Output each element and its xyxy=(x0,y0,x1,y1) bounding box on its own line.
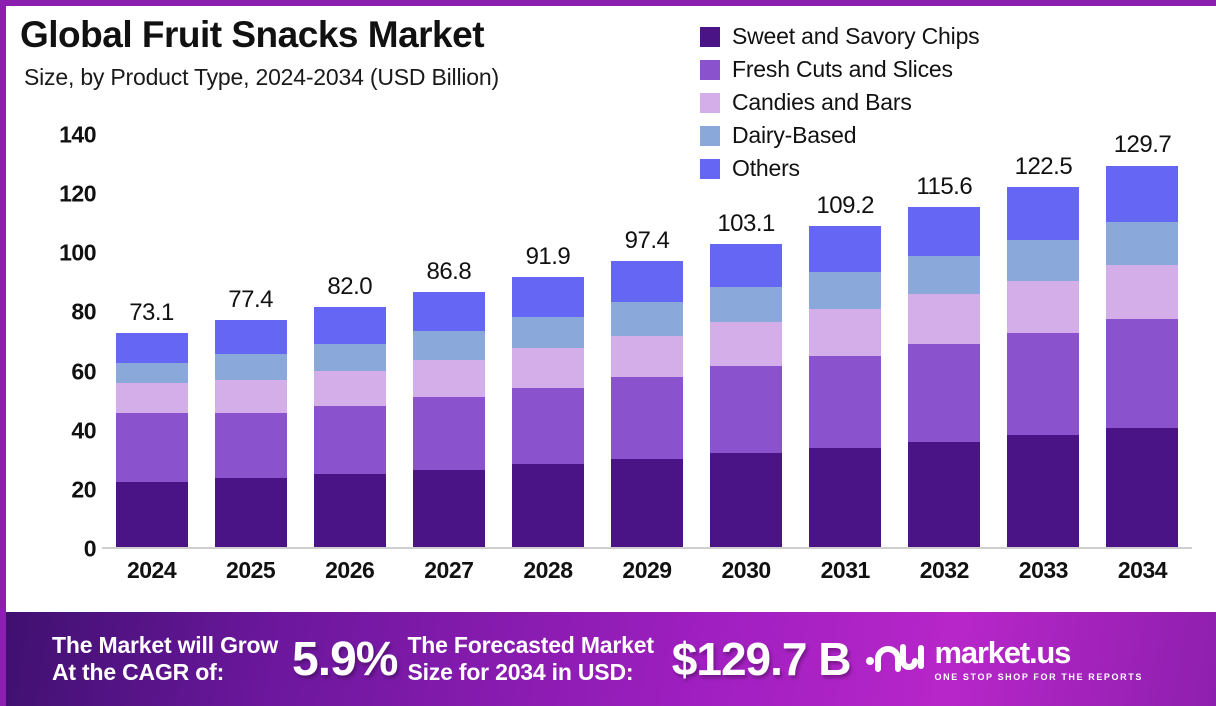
bar-segment[interactable] xyxy=(611,336,683,378)
bar-slot: 82.0 xyxy=(300,135,399,549)
bar-segment[interactable] xyxy=(314,474,386,549)
bar-segment[interactable] xyxy=(1007,187,1079,240)
stacked-bar[interactable] xyxy=(1007,187,1079,549)
stacked-bar[interactable] xyxy=(215,320,287,549)
bar-segment[interactable] xyxy=(1106,265,1178,319)
bar-segment[interactable] xyxy=(710,366,782,453)
y-axis-tick-label: 0 xyxy=(84,536,96,563)
bar-segment[interactable] xyxy=(908,207,980,255)
stacked-bar[interactable] xyxy=(1106,165,1178,549)
legend-swatch-icon xyxy=(700,60,720,80)
y-axis-tick-label: 40 xyxy=(71,417,96,444)
stacked-bar[interactable] xyxy=(116,333,188,549)
bar-total-label: 122.5 xyxy=(1015,153,1073,181)
page-subtitle: Size, by Product Type, 2024-2034 (USD Bi… xyxy=(24,64,499,91)
infographic-frame: Global Fruit Snacks Market Size, by Prod… xyxy=(0,0,1216,706)
stacked-bar[interactable] xyxy=(809,226,881,549)
x-axis-line xyxy=(102,547,1192,549)
bar-total-label: 77.4 xyxy=(228,286,273,314)
bar-total-label: 115.6 xyxy=(916,173,972,201)
bar-slot: 103.1 xyxy=(697,135,796,549)
x-axis-tick-label: 2025 xyxy=(201,557,300,597)
bar-segment[interactable] xyxy=(314,344,386,371)
bar-total-label: 109.2 xyxy=(816,192,874,220)
page-title: Global Fruit Snacks Market xyxy=(20,14,499,57)
stacked-bar[interactable] xyxy=(413,292,485,549)
x-axis-tick-label: 2027 xyxy=(399,557,498,597)
y-axis-tick-label: 120 xyxy=(59,181,96,208)
bar-segment[interactable] xyxy=(1106,222,1178,265)
legend-item[interactable]: Fresh Cuts and Slices xyxy=(700,53,979,86)
plot-area: 73.177.482.086.891.997.4103.1109.2115.61… xyxy=(102,135,1192,549)
bar-segment[interactable] xyxy=(710,244,782,287)
bar-segment[interactable] xyxy=(512,348,584,387)
bar-segment[interactable] xyxy=(611,459,683,549)
x-axis-tick-label: 2034 xyxy=(1093,557,1192,597)
stacked-bar[interactable] xyxy=(710,244,782,549)
bar-segment[interactable] xyxy=(413,292,485,331)
bar-segment[interactable] xyxy=(314,307,386,344)
bar-segment[interactable] xyxy=(611,377,683,459)
forecast-size-label-line1: The Forecasted Market xyxy=(407,632,653,659)
market-us-monogram-icon xyxy=(865,639,927,680)
bar-segment[interactable] xyxy=(611,302,683,335)
bar-segment[interactable] xyxy=(512,464,584,549)
stacked-bar[interactable] xyxy=(512,277,584,549)
bar-segment[interactable] xyxy=(116,482,188,549)
brand-text: market.us ONE STOP SHOP FOR THE REPORTS xyxy=(935,637,1143,682)
bar-total-label: 86.8 xyxy=(426,258,471,286)
brand-name: market.us xyxy=(935,637,1143,668)
bar-segment[interactable] xyxy=(809,309,881,356)
bar-segment[interactable] xyxy=(314,406,386,475)
y-axis-tick-label: 80 xyxy=(71,299,96,326)
legend-swatch-icon xyxy=(700,27,720,47)
bar-slot: 122.5 xyxy=(994,135,1093,549)
bar-slot: 91.9 xyxy=(498,135,597,549)
cagr-label-line1: The Market will Grow xyxy=(52,632,278,659)
bar-segment[interactable] xyxy=(809,356,881,448)
y-axis-tick-label: 100 xyxy=(59,240,96,267)
x-axis-tick-label: 2028 xyxy=(498,557,597,597)
forecast-size-label: The Forecasted Market Size for 2034 in U… xyxy=(407,632,653,686)
bar-segment[interactable] xyxy=(215,380,287,413)
bar-segment[interactable] xyxy=(710,322,782,366)
bar-total-label: 91.9 xyxy=(526,243,571,271)
bar-segment[interactable] xyxy=(1007,281,1079,333)
bar-slot: 97.4 xyxy=(597,135,696,549)
y-axis-tick-label: 60 xyxy=(71,358,96,385)
y-axis-labels: 020406080100120140 xyxy=(26,135,96,549)
bar-segment[interactable] xyxy=(116,383,188,413)
bar-total-label: 97.4 xyxy=(625,227,670,255)
bar-segment[interactable] xyxy=(413,397,485,470)
bar-total-label: 103.1 xyxy=(717,210,775,238)
bar-segment[interactable] xyxy=(908,256,980,295)
bar-segment[interactable] xyxy=(215,320,287,354)
bar-segment[interactable] xyxy=(908,442,980,549)
bar-slot: 77.4 xyxy=(201,135,300,549)
x-axis-tick-label: 2033 xyxy=(994,557,1093,597)
bar-segment[interactable] xyxy=(116,333,188,363)
brand-tagline: ONE STOP SHOP FOR THE REPORTS xyxy=(935,672,1143,682)
bar-segment[interactable] xyxy=(1007,435,1079,549)
x-axis-tick-label: 2024 xyxy=(102,557,201,597)
legend-item[interactable]: Candies and Bars xyxy=(700,86,979,119)
bar-segment[interactable] xyxy=(215,354,287,379)
legend-item-label: Fresh Cuts and Slices xyxy=(732,56,953,83)
bar-segment[interactable] xyxy=(413,360,485,397)
bar-segment[interactable] xyxy=(314,371,386,406)
forecast-size-label-line2: Size for 2034 in USD: xyxy=(407,659,653,686)
bar-segment[interactable] xyxy=(413,331,485,360)
bar-segment[interactable] xyxy=(809,448,881,549)
bar-segment[interactable] xyxy=(710,453,782,549)
bar-segment[interactable] xyxy=(413,470,485,549)
bar-total-label: 82.0 xyxy=(327,273,372,301)
bar-segment[interactable] xyxy=(1007,240,1079,281)
x-axis-tick-label: 2026 xyxy=(300,557,399,597)
x-axis-tick-label: 2031 xyxy=(796,557,895,597)
bar-segment[interactable] xyxy=(1007,333,1079,436)
cagr-value: 5.9% xyxy=(292,632,397,687)
bar-slot: 109.2 xyxy=(796,135,895,549)
legend-swatch-icon xyxy=(700,93,720,113)
bar-total-label: 73.1 xyxy=(129,299,174,327)
bar-segment[interactable] xyxy=(1106,319,1178,428)
bar-segment[interactable] xyxy=(611,261,683,302)
x-axis-tick-label: 2032 xyxy=(895,557,994,597)
bar-slot: 73.1 xyxy=(102,135,201,549)
bar-segment[interactable] xyxy=(809,272,881,309)
x-axis-labels: 2024202520262027202820292030203120322033… xyxy=(102,557,1192,597)
cagr-label: The Market will Grow At the CAGR of: xyxy=(52,632,278,686)
chart-header: Global Fruit Snacks Market Size, by Prod… xyxy=(20,14,499,91)
bar-segment[interactable] xyxy=(512,388,584,465)
y-axis-tick-label: 20 xyxy=(71,476,96,503)
legend-item[interactable]: Sweet and Savory Chips xyxy=(700,20,979,53)
legend-item-label: Candies and Bars xyxy=(732,89,912,116)
bar-segment[interactable] xyxy=(908,344,980,442)
bar-segment[interactable] xyxy=(215,478,287,549)
stacked-bar[interactable] xyxy=(314,307,386,549)
bar-slot: 129.7 xyxy=(1093,135,1192,549)
bar-segment[interactable] xyxy=(116,413,188,482)
bar-segment[interactable] xyxy=(908,294,980,344)
bar-segment[interactable] xyxy=(512,277,584,317)
bar-segment[interactable] xyxy=(512,317,584,348)
bar-segment[interactable] xyxy=(1106,166,1178,222)
cagr-label-line2: At the CAGR of: xyxy=(52,659,278,686)
x-axis-tick-label: 2029 xyxy=(597,557,696,597)
bar-total-label: 129.7 xyxy=(1114,131,1172,159)
x-axis-tick-label: 2030 xyxy=(697,557,796,597)
stacked-bar[interactable] xyxy=(611,261,683,549)
y-axis-tick-label: 140 xyxy=(59,122,96,149)
bar-group: 73.177.482.086.891.997.4103.1109.2115.61… xyxy=(102,135,1192,549)
stacked-bar[interactable] xyxy=(908,207,980,549)
forecast-size-value: $129.7 B xyxy=(672,632,851,686)
bar-segment[interactable] xyxy=(116,363,188,383)
bar-slot: 115.6 xyxy=(895,135,994,549)
bar-segment[interactable] xyxy=(710,287,782,322)
bar-segment[interactable] xyxy=(809,226,881,272)
legend-item-label: Sweet and Savory Chips xyxy=(732,23,979,50)
bar-slot: 86.8 xyxy=(399,135,498,549)
footer-banner: The Market will Grow At the CAGR of: 5.9… xyxy=(6,612,1216,706)
bar-segment[interactable] xyxy=(1106,428,1178,549)
brand-logo[interactable]: market.us ONE STOP SHOP FOR THE REPORTS xyxy=(865,637,1143,682)
bar-segment[interactable] xyxy=(215,413,287,479)
